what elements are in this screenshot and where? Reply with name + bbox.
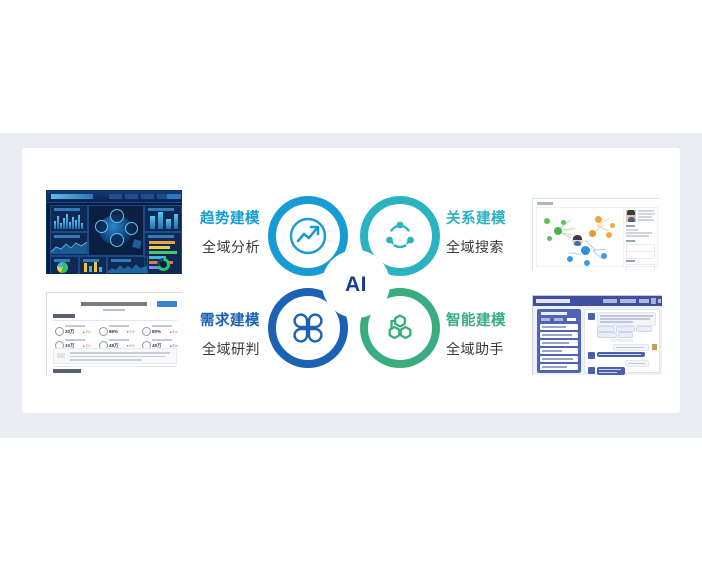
trend-title: 趋势建模 [150, 212, 260, 228]
graph-node[interactable] [567, 256, 573, 262]
assistant-avatar [588, 367, 595, 374]
smart-title: 智能建模 [446, 314, 556, 330]
dashboard-tab[interactable] [109, 194, 122, 199]
suggestion-chip[interactable] [597, 332, 617, 338]
trend-subtitle: 全域分析 [150, 240, 260, 255]
demand-title: 需求建模 [150, 314, 260, 330]
graph-node[interactable] [601, 253, 607, 259]
chat-top-bar [533, 296, 662, 306]
label-block-trend: 趋势建模 全域分析 [150, 212, 260, 255]
map-node [110, 209, 124, 223]
panel-caption [111, 259, 131, 262]
suggestion-chip[interactable] [618, 332, 633, 338]
graph-node[interactable] [589, 230, 596, 237]
graph-node[interactable] [584, 260, 590, 266]
dashboard-header [47, 191, 182, 203]
ai-center-badge: AI [322, 250, 390, 318]
donut-chart [157, 258, 170, 271]
assistant-message [597, 312, 656, 326]
stat-icon [55, 327, 64, 336]
map-node [95, 220, 108, 233]
dashboard-area-panel [50, 232, 88, 256]
dashboard-title-bar [51, 194, 93, 199]
chat-list-item[interactable] [540, 364, 578, 370]
stat-icon [99, 327, 108, 336]
graph-node[interactable] [610, 223, 615, 228]
user-message [613, 344, 649, 351]
chat-top-action[interactable] [620, 299, 636, 303]
graph-node[interactable] [606, 232, 612, 238]
dashboard-bar-panel [50, 205, 88, 232]
map-cube [132, 239, 142, 249]
report-title [81, 302, 147, 306]
smart-subtitle: 全域助手 [446, 342, 556, 357]
demand-subtitle: 全域研判 [150, 342, 260, 357]
dashboard-tab[interactable] [125, 194, 138, 199]
graph-node[interactable] [581, 246, 590, 255]
dashboard-tab-active[interactable] [167, 194, 181, 199]
ai-badge-label: AI [345, 274, 367, 295]
relation-title: 关系建模 [446, 212, 556, 228]
panel-caption [54, 208, 80, 211]
relation-subtitle: 全域搜索 [446, 240, 556, 255]
chat-top-action[interactable] [639, 299, 649, 303]
assistant-message [597, 367, 625, 375]
report-export-button[interactable] [157, 301, 177, 307]
chat-top-action[interactable] [658, 299, 661, 303]
trend-spark-icon [108, 263, 147, 273]
chat-sidebar-tab-active[interactable] [567, 318, 576, 321]
map-node [125, 222, 138, 235]
report-footer-heading [53, 369, 81, 373]
report-divider [53, 366, 177, 367]
label-block-smart: 智能建模 全域助手 [446, 314, 556, 357]
graph-title [537, 202, 553, 205]
profile-photo [626, 210, 636, 222]
dashboard-tab[interactable] [141, 194, 154, 199]
report-section-heading [53, 314, 75, 318]
panel-caption [54, 235, 80, 238]
graph-profile-panel [623, 207, 658, 267]
page-root: 20万▲3% 86%▼1% 80%▲4% 10万▲2% 48万▼6% 49万▲8… [0, 0, 702, 570]
chat-user-avatar[interactable] [651, 298, 656, 304]
label-block-relation: 关系建模 全域搜索 [446, 212, 556, 255]
user-avatar [652, 344, 657, 350]
graph-center-avatar[interactable] [571, 234, 584, 247]
chat-conversation[interactable] [584, 309, 660, 373]
ai-capability-cluster: AI [268, 196, 444, 372]
report-subtitle [103, 309, 125, 311]
suggestion-chip[interactable] [636, 326, 652, 332]
label-block-demand: 需求建模 全域研判 [150, 314, 260, 357]
assistant-avatar [588, 313, 595, 320]
map-node [110, 233, 124, 247]
dashboard-minibar-panel [79, 256, 107, 274]
user-message [625, 360, 649, 367]
assistant-message [597, 352, 645, 357]
dashboard-map-panel [88, 205, 144, 256]
chat-app-logo [536, 299, 570, 303]
dashboard-pie-panel [50, 256, 79, 274]
area-spark-icon [51, 240, 87, 254]
chat-timestamp-divider [611, 339, 633, 342]
graph-node[interactable] [561, 220, 566, 225]
pie-chart [57, 262, 68, 273]
dashboard-donut-panel [148, 256, 180, 273]
chat-top-action[interactable] [603, 299, 617, 303]
assistant-avatar [588, 352, 595, 359]
panel-caption [148, 208, 174, 211]
dashboard-trend-panel [107, 256, 148, 274]
trend-arrow-icon [276, 204, 340, 268]
graph-node[interactable] [595, 216, 602, 223]
